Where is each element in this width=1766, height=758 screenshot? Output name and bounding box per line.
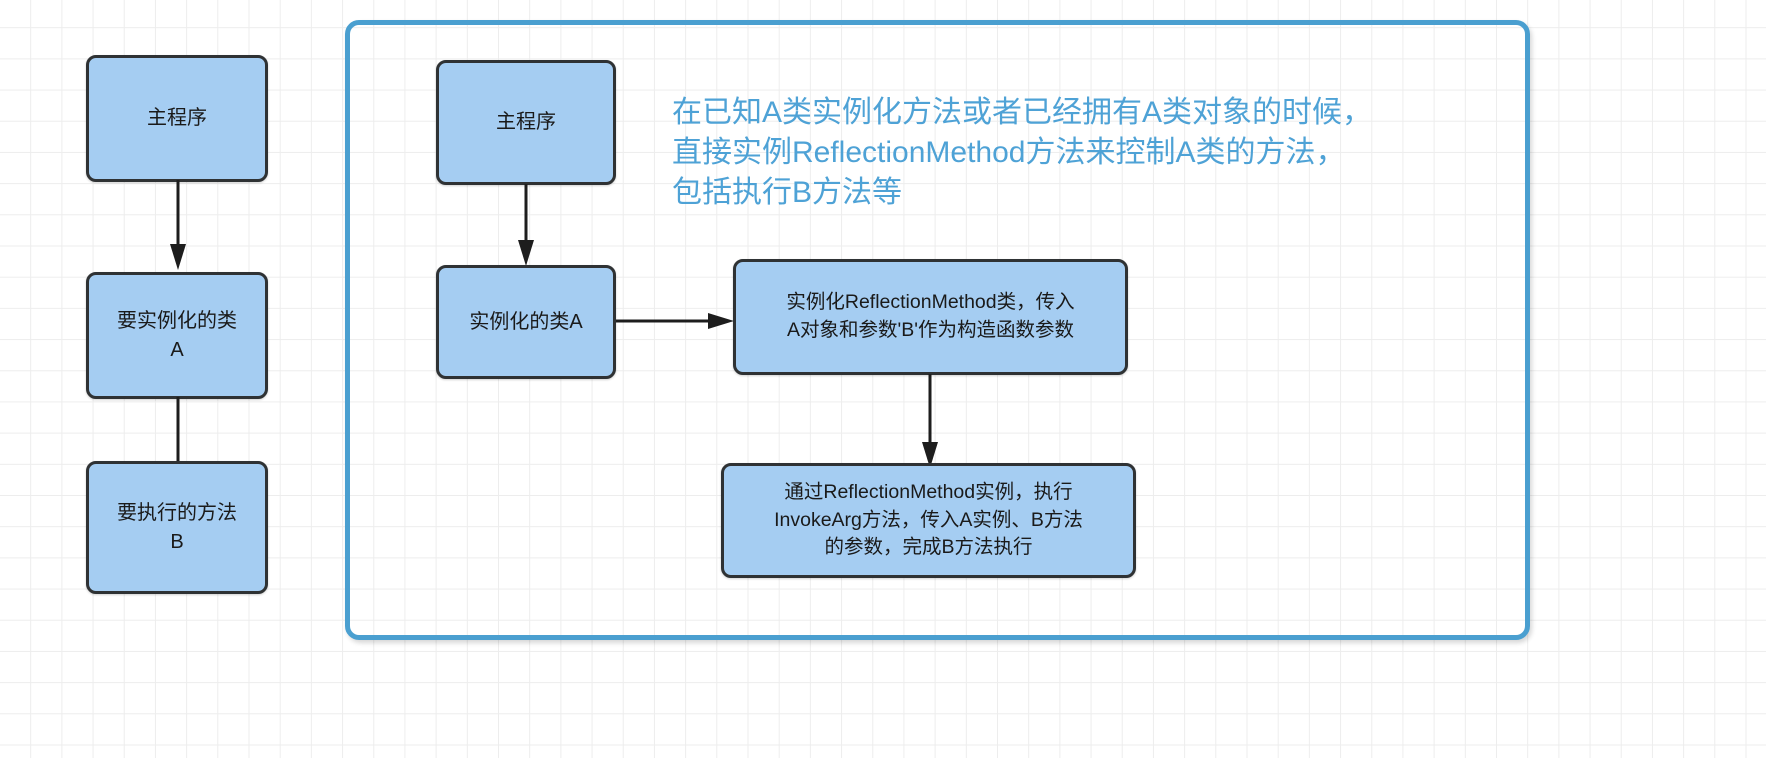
node-class-to-instantiate[interactable]: 要实例化的类 A [86,272,268,399]
annotation-reflection-note: 在已知A类实例化方法或者已经拥有A类对象的时候， 直接实例ReflectionM… [672,93,1512,213]
node-instantiated-class-a[interactable]: 实例化的类A [436,265,616,379]
connector-main-to-class [170,180,186,272]
connector-class-to-reflection [616,313,736,329]
diagram-canvas: 主程序 要实例化的类 A 要执行的方法 B 在已知A类实例化方法或者已经拥有A类… [0,0,1766,758]
connector-reflection-to-invoke [922,374,938,470]
node-main-program-2[interactable]: 主程序 [436,60,616,185]
node-reflection-method-instance[interactable]: 实例化ReflectionMethod类，传入 A对象和参数'B'作为构造函数参… [733,259,1128,375]
connector-main2-to-instantiated-class [518,184,534,268]
node-method-to-execute[interactable]: 要执行的方法 B [86,461,268,594]
node-invoke-arg-execution[interactable]: 通过ReflectionMethod实例，执行 InvokeArg方法，传入A实… [721,463,1136,578]
node-main-program[interactable]: 主程序 [86,55,268,182]
